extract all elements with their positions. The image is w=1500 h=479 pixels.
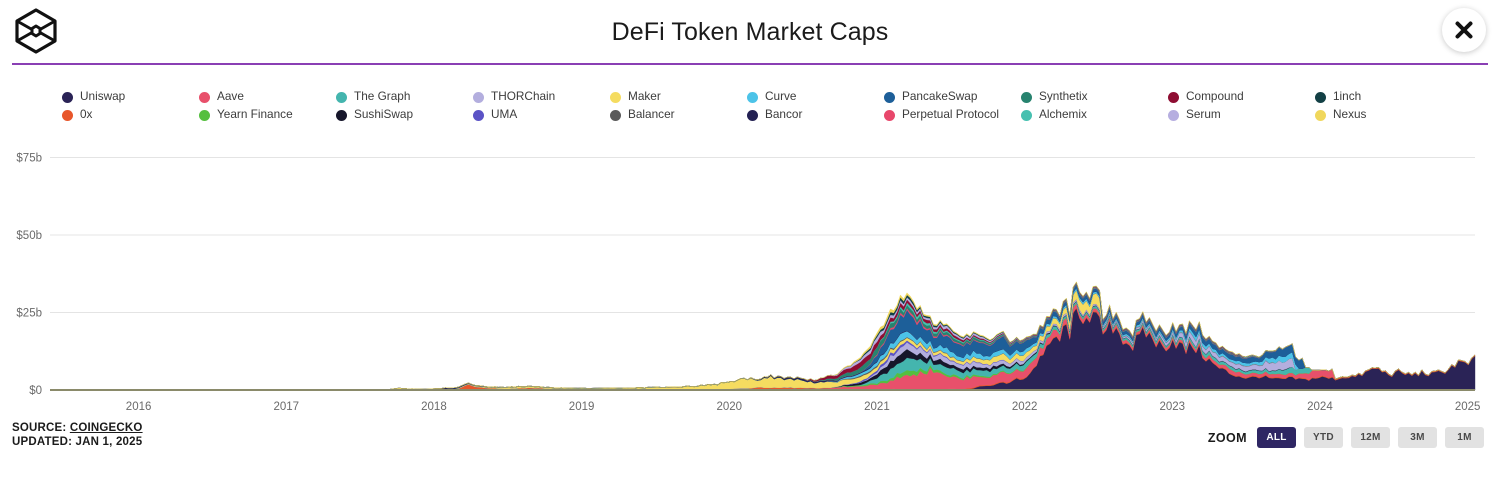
zoom-button-3m[interactable]: 3M: [1398, 427, 1437, 448]
defi-market-caps-widget: DeFi Token Market Caps Uniswap0xAaveYear…: [0, 0, 1500, 479]
legend-item-the-graph[interactable]: The Graph: [336, 88, 473, 106]
legend-item-curve[interactable]: Curve: [747, 88, 884, 106]
cube-logo-icon: [12, 7, 60, 55]
legend-item-bancor[interactable]: Bancor: [747, 106, 884, 124]
legend-color-swatch: [62, 110, 73, 121]
legend-item-synthetix[interactable]: Synthetix: [1021, 88, 1168, 106]
zoom-button-1m[interactable]: 1M: [1445, 427, 1484, 448]
legend-item-uniswap[interactable]: Uniswap: [62, 88, 199, 106]
legend-item-label: The Graph: [354, 91, 410, 103]
legend-color-swatch: [336, 110, 347, 121]
legend-item-serum[interactable]: Serum: [1168, 106, 1315, 124]
legend-item-label: SushiSwap: [354, 109, 413, 121]
zoom-button-all[interactable]: ALL: [1257, 427, 1296, 448]
legend-color-swatch: [1021, 110, 1032, 121]
source-block: SOURCE: COINGECKO UPDATED: JAN 1, 2025: [12, 421, 143, 449]
legend-item-alchemix[interactable]: Alchemix: [1021, 106, 1168, 124]
legend-item-label: Balancer: [628, 109, 675, 121]
legend-color-swatch: [884, 92, 895, 103]
legend-item-label: Bancor: [765, 109, 802, 121]
legend-item-label: Aave: [217, 91, 244, 103]
legend-item-compound[interactable]: Compound: [1168, 88, 1315, 106]
y-axis-tick-label: $0: [29, 385, 42, 397]
legend-color-swatch: [336, 92, 347, 103]
source-line: SOURCE: COINGECKO: [12, 421, 143, 435]
legend-item-perpetual-protocol[interactable]: Perpetual Protocol: [884, 106, 1021, 124]
close-icon: [1453, 19, 1475, 41]
legend-item-balancer[interactable]: Balancer: [610, 106, 747, 124]
legend-color-swatch: [1168, 110, 1179, 121]
legend-item-label: PancakeSwap: [902, 91, 977, 103]
legend-item-label: Nexus: [1333, 109, 1366, 121]
x-axis-tick-label: 2025: [1455, 401, 1481, 413]
legend-item-maker[interactable]: Maker: [610, 88, 747, 106]
chart-area: $0$25b$50b$75b20162017201820192020202120…: [0, 130, 1500, 420]
legend-item-label: 1inch: [1333, 91, 1361, 103]
source-prefix: SOURCE:: [12, 422, 66, 434]
legend-item-label: 0x: [80, 109, 92, 121]
page-title: DeFi Token Market Caps: [612, 18, 889, 45]
legend-item-label: Serum: [1186, 109, 1221, 121]
legend-item-label: UMA: [491, 109, 517, 121]
legend-item-label: Curve: [765, 91, 796, 103]
zoom-controls: ZOOM ALLYTD12M3M1M: [1208, 427, 1484, 448]
legend-item-0x[interactable]: 0x: [62, 106, 199, 124]
zoom-label: ZOOM: [1208, 431, 1247, 445]
legend-item-label: Alchemix: [1039, 109, 1087, 121]
legend-color-swatch: [1315, 92, 1326, 103]
legend-color-swatch: [1315, 110, 1326, 121]
legend-color-swatch: [473, 110, 484, 121]
stacked-area-chart: $0$25b$50b$75b20162017201820192020202120…: [0, 130, 1500, 420]
legend-item-uma[interactable]: UMA: [473, 106, 610, 124]
legend-color-swatch: [1021, 92, 1032, 103]
x-axis-tick-label: 2021: [864, 401, 890, 413]
legend-item-thorchain[interactable]: THORChain: [473, 88, 610, 106]
chart-legend: Uniswap0xAaveYearn FinanceThe GraphSushi…: [62, 88, 1482, 124]
x-axis-tick-label: 2023: [1159, 401, 1185, 413]
x-axis-tick-label: 2016: [126, 401, 152, 413]
y-axis-tick-label: $25b: [16, 308, 42, 320]
legend-color-swatch: [747, 110, 758, 121]
legend-item-label: Uniswap: [80, 91, 125, 103]
legend-color-swatch: [199, 110, 210, 121]
legend-item-aave[interactable]: Aave: [199, 88, 336, 106]
x-axis-tick-label: 2018: [421, 401, 447, 413]
y-axis-tick-label: $75b: [16, 153, 42, 165]
legend-color-swatch: [610, 92, 621, 103]
header-divider: [12, 63, 1488, 65]
legend-color-swatch: [610, 110, 621, 121]
legend-item-pancakeswap[interactable]: PancakeSwap: [884, 88, 1021, 106]
legend-item-label: Compound: [1186, 91, 1244, 103]
zoom-button-ytd[interactable]: YTD: [1304, 427, 1343, 448]
legend-color-swatch: [199, 92, 210, 103]
legend-item-sushiswap[interactable]: SushiSwap: [336, 106, 473, 124]
zoom-button-group: ALLYTD12M3M1M: [1257, 427, 1484, 448]
legend-item-label: Maker: [628, 91, 661, 103]
footer: SOURCE: COINGECKO UPDATED: JAN 1, 2025 Z…: [0, 419, 1500, 479]
x-axis-tick-label: 2020: [716, 401, 742, 413]
legend-item-label: THORChain: [491, 91, 555, 103]
header: DeFi Token Market Caps: [0, 0, 1500, 62]
legend-color-swatch: [62, 92, 73, 103]
source-link[interactable]: COINGECKO: [70, 422, 143, 434]
x-axis-tick-label: 2022: [1012, 401, 1038, 413]
y-axis-tick-label: $50b: [16, 230, 42, 242]
legend-color-swatch: [1168, 92, 1179, 103]
legend-item-label: Yearn Finance: [217, 109, 293, 121]
legend-item-yearn-finance[interactable]: Yearn Finance: [199, 106, 336, 124]
legend-item-1inch[interactable]: 1inch: [1315, 88, 1445, 106]
x-axis-tick-label: 2017: [273, 401, 299, 413]
legend-item-label: Synthetix: [1039, 91, 1088, 103]
x-axis-tick-label: 2019: [569, 401, 595, 413]
x-axis-tick-label: 2024: [1307, 401, 1333, 413]
close-button[interactable]: [1442, 8, 1486, 52]
updated-line: UPDATED: JAN 1, 2025: [12, 435, 143, 449]
legend-item-nexus[interactable]: Nexus: [1315, 106, 1445, 124]
legend-item-label: Perpetual Protocol: [902, 109, 999, 121]
legend-color-swatch: [747, 92, 758, 103]
zoom-button-12m[interactable]: 12M: [1351, 427, 1390, 448]
legend-color-swatch: [884, 110, 895, 121]
legend-color-swatch: [473, 92, 484, 103]
